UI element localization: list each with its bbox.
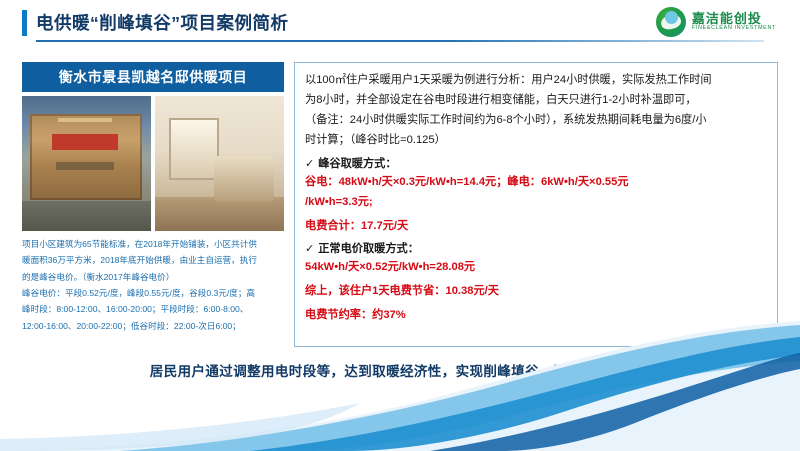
logo-text-block: 嘉洁能创投 FINE&CLEAN INVESTMENT [692, 12, 776, 31]
project-title-banner: 衡水市景县凯越名邸供暖项目 [22, 62, 284, 92]
section-title: 峰谷取暖方式： [318, 155, 396, 171]
conclusion-text: 居民用户通过调整用电时段等，达到取暖经济性，实现削峰填谷，助力消纳谷电。 [0, 360, 800, 380]
section-normal-price-heading: ✓ 正常电价取暖方式： [305, 240, 767, 256]
project-photos [22, 96, 284, 231]
section-1-line: 谷电：48kW•h/天×0.3元/kW•h=14.4元；峰电：6kW•h/天×0… [305, 173, 767, 191]
section-2-savings: 综上，该住户1天电费节省：10.38元/天 [305, 282, 767, 300]
check-mark-icon: ✓ [305, 242, 314, 255]
page-title: 电供暖“削峰填谷”项目案例简析 [36, 10, 289, 35]
project-description-line: 暖面积36万平方米，2018年底开始供暖，由业主自运营，执行 [22, 254, 284, 267]
header-accent-bar [22, 10, 27, 36]
section-2-line: 54kW•h/天×0.52元/kW•h=28.08元 [305, 258, 767, 276]
slide-header: 电供暖“削峰填谷”项目案例简析 嘉洁能创投 FINE&CLEAN INVESTM… [0, 0, 800, 49]
analysis-panel: 以100㎡住户采暖用户1天采暖为例进行分析：用户24小时供暖，实际发热工作时间 … [294, 62, 778, 347]
logo-name-en: FINE&CLEAN INVESTMENT [692, 26, 776, 32]
project-description-line: 峰时段：8:00-12:00、16:00-20:00；平段时段：6:00-8:0… [22, 303, 284, 316]
header-divider [36, 40, 764, 42]
section-2-rate: 电费节约率：约37% [305, 306, 767, 324]
leaf-circle-logo-icon [656, 7, 686, 37]
section-title: 正常电价取暖方式： [318, 240, 419, 256]
section-peak-valley-heading: ✓ 峰谷取暖方式： [305, 155, 767, 171]
photo-ground [22, 201, 151, 231]
logo-name-cn: 嘉洁能创投 [692, 12, 776, 26]
analysis-intro-line: 以100㎡住户采暖用户1天采暖为例进行分析：用户24小时供暖，实际发热工作时间 [305, 71, 767, 89]
project-description-line: 的是峰谷电价。（衡水2017年峰谷电价） [22, 271, 284, 284]
analysis-intro-line: 为8小时，并全部设定在谷电时段进行相变储能，白天只进行1-2小时补温即可， [305, 91, 767, 109]
analysis-intro-line: （备注：24小时供暖实际工作时间约为6-8个小时），系统发热期间耗电量为6度/小 [305, 111, 767, 129]
project-description: 项目小区建筑为65节能标准，在2018年开始铺装，小区共计供 暖面积36万平方米… [22, 238, 284, 336]
analysis-intro-line: 时计算；（峰谷时比=0.125） [305, 131, 767, 149]
project-description-line: 项目小区建筑为65节能标准，在2018年开始铺装，小区共计供 [22, 238, 284, 251]
building-exterior-photo [22, 96, 151, 231]
section-1-total: 电费合计：17.7元/天 [305, 217, 767, 235]
slide: 电供暖“削峰填谷”项目案例简析 嘉洁能创投 FINE&CLEAN INVESTM… [0, 0, 800, 451]
section-1-line: /kW•h=3.3元; [305, 193, 767, 211]
company-logo: 嘉洁能创投 FINE&CLEAN INVESTMENT [656, 7, 776, 37]
check-mark-icon: ✓ [305, 157, 314, 170]
project-description-line: 峰谷电价：平段0.52元/度，峰段0.55元/度，谷段0.3元/度；高 [22, 287, 284, 300]
photo-floor [155, 197, 284, 231]
project-description-line: 12:00-16:00、20:00-22:00；低谷时段：22:00-次日6:0… [22, 320, 284, 333]
interior-room-photo [155, 96, 284, 231]
left-column: 衡水市景县凯越名邸供暖项目 项目小区建筑为65节能标准，在2018年开始铺装，小… [22, 62, 284, 344]
